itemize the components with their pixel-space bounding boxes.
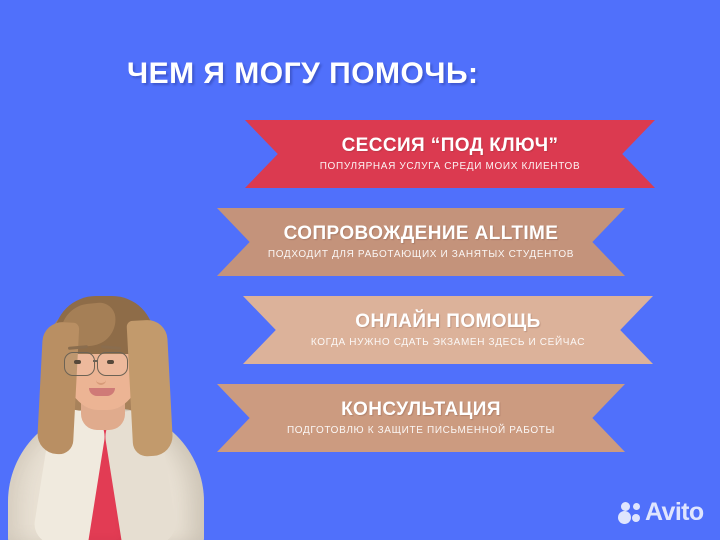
promo-poster: ЧЕМ Я МОГУ ПОМОЧЬ: СЕССИЯ “ПОД КЛЮЧ” ПОП… [0, 0, 720, 540]
service-title: ОНЛАЙН ПОМОЩЬ [355, 312, 540, 332]
service-subtitle: ПОДГОТОВЛЮ К ЗАЩИТЕ ПИСЬМЕННОЙ РАБОТЫ [287, 425, 555, 436]
page-title: ЧЕМ Я МОГУ ПОМОЧЬ: [127, 59, 479, 89]
service-title: СЕССИЯ “ПОД КЛЮЧ” [342, 136, 559, 156]
service-subtitle: КОГДА НУЖНО СДАТЬ ЭКЗАМЕН ЗДЕСЬ И СЕЙЧАС [311, 337, 585, 348]
service-subtitle: ПОПУЛЯРНАЯ УСЛУГА СРЕДИ МОИХ КЛИЕНТОВ [320, 161, 581, 172]
service-subtitle: ПОДХОДИТ ДЛЯ РАБОТАЮЩИХ И ЗАНЯТЫХ СТУДЕН… [268, 249, 574, 260]
eye-right [107, 360, 114, 364]
eyeglasses-icon [97, 352, 128, 376]
eyeglasses-icon [64, 352, 95, 376]
avito-wordmark: Avito [645, 500, 704, 525]
portrait-photo [0, 280, 210, 540]
eye-left [74, 360, 81, 364]
service-title: КОНСУЛЬТАЦИЯ [341, 400, 501, 420]
service-title: СОПРОВОЖДЕНИЕ ALLTIME [284, 224, 559, 244]
nose [96, 374, 106, 385]
mouth [89, 388, 115, 396]
avito-dots-icon [618, 501, 642, 525]
hair-right [126, 319, 173, 457]
service-ribbon-online-help[interactable]: ОНЛАЙН ПОМОЩЬ КОГДА НУЖНО СДАТЬ ЭКЗАМЕН … [243, 296, 653, 364]
hair-left [37, 321, 80, 455]
eyeglasses-bridge [93, 360, 98, 362]
service-ribbon-session[interactable]: СЕССИЯ “ПОД КЛЮЧ” ПОПУЛЯРНАЯ УСЛУГА СРЕД… [245, 120, 655, 188]
service-ribbon-alltime[interactable]: СОПРОВОЖДЕНИЕ ALLTIME ПОДХОДИТ ДЛЯ РАБОТ… [217, 208, 625, 276]
service-ribbon-consultation[interactable]: КОНСУЛЬТАЦИЯ ПОДГОТОВЛЮ К ЗАЩИТЕ ПИСЬМЕН… [217, 384, 625, 452]
avito-watermark: Avito [618, 500, 704, 525]
